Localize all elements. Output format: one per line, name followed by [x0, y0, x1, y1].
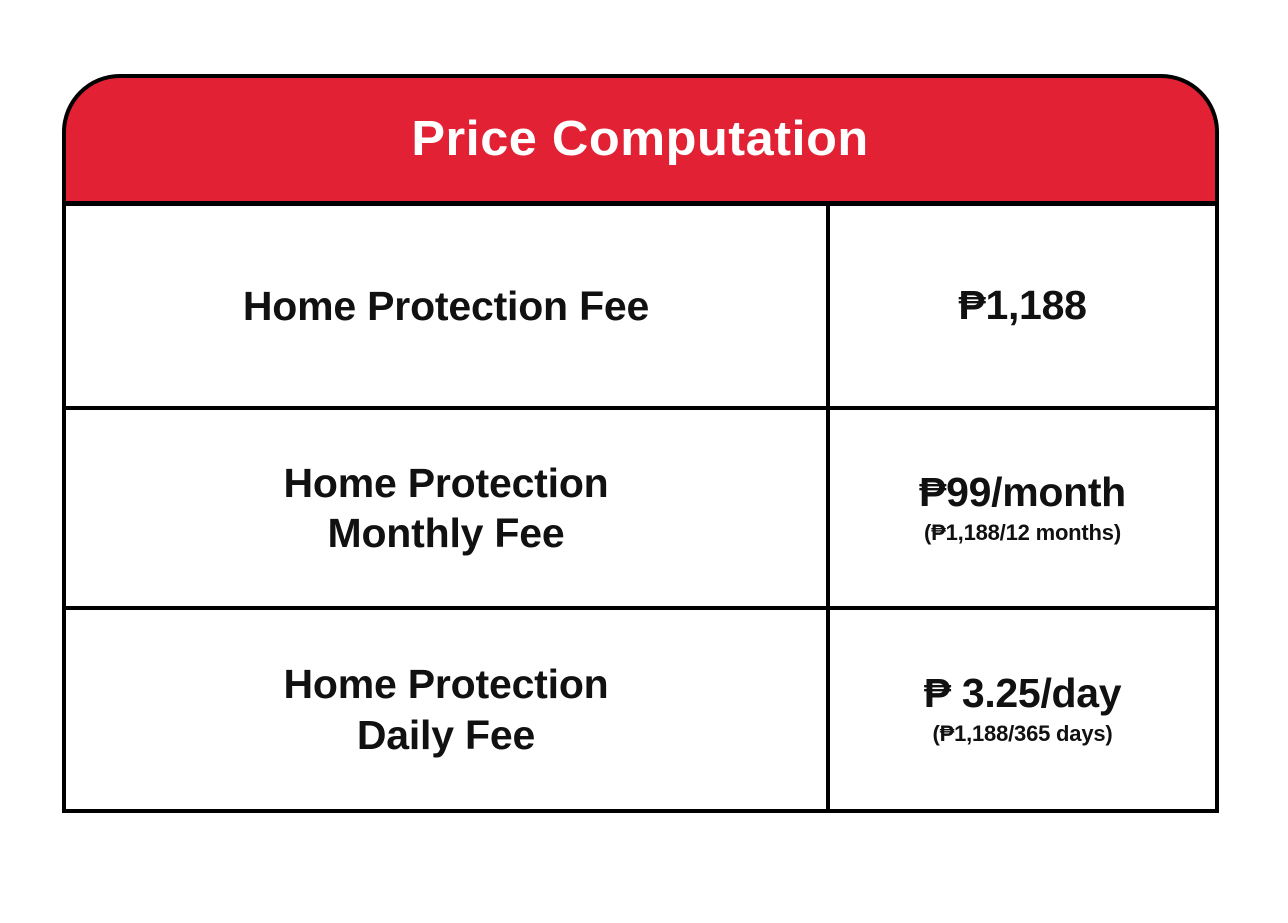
row-label-cell: Home Protection Monthly Fee [66, 410, 830, 606]
table-title: Price Computation [412, 115, 869, 164]
row-value-cell: ₱1,188 [830, 206, 1215, 406]
table-row: Home Protection Daily Fee ₱ 3.25/day (₱1… [66, 610, 1215, 809]
row-value-note: (₱1,188/365 days) [932, 721, 1112, 747]
row-label-line-1: Home Protection Fee [243, 281, 649, 331]
row-value: ₱1,188 [958, 283, 1086, 329]
row-value: ₱ 3.25/day [924, 671, 1122, 717]
row-label-line-2: Monthly Fee [283, 508, 608, 558]
table-body: Home Protection Fee ₱1,188 Home Protecti… [62, 206, 1219, 813]
row-label: Home Protection Monthly Fee [283, 458, 608, 558]
page-canvas: Price Computation Home Protection Fee ₱1… [0, 0, 1288, 923]
row-label-cell: Home Protection Fee [66, 206, 830, 406]
row-value-cell: ₱ 3.25/day (₱1,188/365 days) [830, 610, 1215, 809]
table-header-banner: Price Computation [62, 74, 1219, 206]
table-row: Home Protection Monthly Fee ₱99/month (₱… [66, 410, 1215, 610]
row-label: Home Protection Daily Fee [283, 659, 608, 759]
row-label-cell: Home Protection Daily Fee [66, 610, 830, 809]
row-label: Home Protection Fee [243, 281, 649, 331]
row-value-note: (₱1,188/12 months) [924, 520, 1121, 546]
row-value-cell: ₱99/month (₱1,188/12 months) [830, 410, 1215, 606]
price-computation-table: Price Computation Home Protection Fee ₱1… [62, 74, 1219, 813]
row-label-line-1: Home Protection [283, 659, 608, 709]
row-label-line-2: Daily Fee [283, 710, 608, 760]
table-row: Home Protection Fee ₱1,188 [66, 206, 1215, 410]
row-value: ₱99/month [919, 470, 1126, 516]
row-label-line-1: Home Protection [283, 458, 608, 508]
